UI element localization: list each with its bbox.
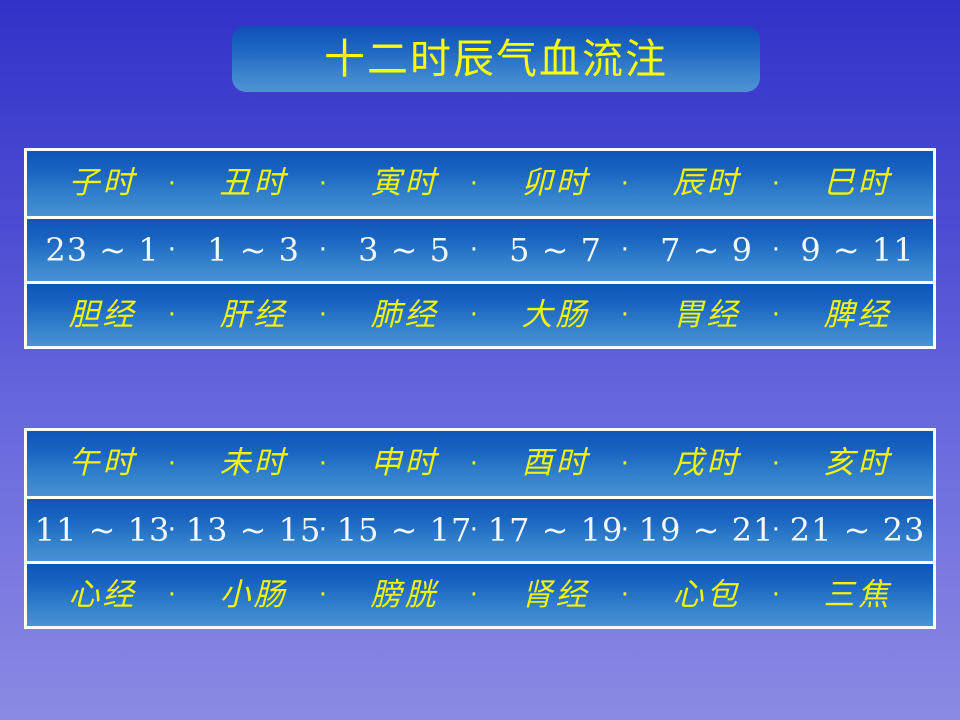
cell-shichen-zi: 子时· — [27, 151, 178, 216]
separator-dot: · — [470, 237, 478, 263]
cell-meridian-wei: 胃经· — [631, 284, 782, 346]
cell-meridian-dachang: 大肠· — [480, 284, 631, 346]
separator-dot: · — [470, 451, 478, 477]
separator-dot: · — [168, 582, 176, 608]
separator-dot: · — [168, 517, 176, 543]
cell-time-mao: 5 ~ 7· — [480, 219, 631, 281]
slide-title-box: 十二时辰气血流注 — [232, 26, 760, 92]
cell-time-you: 17 ~ 19· — [480, 499, 631, 561]
cell-time-chen: 7 ~ 9· — [631, 219, 782, 281]
table-row: 23 ~ 1· 1 ~ 3· 3 ~ 5· 5 ~ 7· 7 ~ 9· 9 ~ … — [27, 216, 933, 281]
separator-dot: · — [772, 302, 780, 328]
separator-dot: · — [470, 582, 478, 608]
table-row: 子时· 丑时· 寅时· 卯时· 辰时· 巳时· — [27, 151, 933, 216]
separator-dot: · — [772, 582, 780, 608]
separator-dot: · — [168, 237, 176, 263]
cell-time-shen: 15 ~ 17· — [329, 499, 480, 561]
cell-shichen-wei: 未时· — [178, 431, 329, 496]
cell-meridian-xinbao: 心包· — [631, 564, 782, 626]
cell-shichen-chen: 辰时· — [631, 151, 782, 216]
separator-dot: · — [621, 237, 629, 263]
separator-dot: · — [621, 302, 629, 328]
separator-dot: · — [470, 517, 478, 543]
table-row: 胆经· 肝经· 肺经· 大肠· 胃经· 脾经· — [27, 281, 933, 346]
table-row: 11 ~ 13· 13 ~ 15· 15 ~ 17· 17 ~ 19· 19 ~… — [27, 496, 933, 561]
slide-canvas: 十二时辰气血流注 子时· 丑时· 寅时· 卯时· 辰时· 巳时· 23 ~ 1·… — [0, 0, 960, 720]
separator-dot: · — [319, 517, 327, 543]
cell-shichen-mao: 卯时· — [480, 151, 631, 216]
cell-shichen-hai: 亥时· — [782, 431, 933, 496]
cell-time-xu: 19 ~ 21· — [631, 499, 782, 561]
cell-shichen-si: 巳时· — [782, 151, 933, 216]
table-second-half-day: 午时· 未时· 申时· 酉时· 戌时· 亥时· 11 ~ 13· 13 ~ 15… — [24, 428, 936, 629]
separator-dot: · — [319, 451, 327, 477]
cell-meridian-dan: 胆经· — [27, 284, 178, 346]
separator-dot: · — [772, 237, 780, 263]
cell-shichen-shen: 申时· — [329, 431, 480, 496]
separator-dot: · — [621, 517, 629, 543]
separator-dot: · — [470, 171, 478, 197]
separator-dot: · — [772, 451, 780, 477]
separator-dot: · — [319, 582, 327, 608]
cell-shichen-xu: 戌时· — [631, 431, 782, 496]
cell-shichen-chou: 丑时· — [178, 151, 329, 216]
cell-time-yin: 3 ~ 5· — [329, 219, 480, 281]
table-first-half-day: 子时· 丑时· 寅时· 卯时· 辰时· 巳时· 23 ~ 1· 1 ~ 3· 3… — [24, 148, 936, 349]
cell-shichen-yin: 寅时· — [329, 151, 480, 216]
table-row: 午时· 未时· 申时· 酉时· 戌时· 亥时· — [27, 431, 933, 496]
cell-meridian-pi: 脾经· — [782, 284, 933, 346]
cell-meridian-xin: 心经· — [27, 564, 178, 626]
cell-time-wu: 11 ~ 13· — [27, 499, 178, 561]
separator-dot: · — [168, 171, 176, 197]
cell-meridian-gan: 肝经· — [178, 284, 329, 346]
cell-time-hai: 21 ~ 23· — [782, 499, 933, 561]
cell-time-chou: 1 ~ 3· — [178, 219, 329, 281]
table-row: 心经· 小肠· 膀胱· 肾经· 心包· 三焦· — [27, 561, 933, 626]
cell-shichen-wu: 午时· — [27, 431, 178, 496]
cell-meridian-fei: 肺经· — [329, 284, 480, 346]
cell-meridian-xiaochang: 小肠· — [178, 564, 329, 626]
separator-dot: · — [319, 171, 327, 197]
separator-dot: · — [319, 237, 327, 263]
separator-dot: · — [772, 517, 780, 543]
separator-dot: · — [319, 302, 327, 328]
separator-dot: · — [621, 171, 629, 197]
cell-time-zi: 23 ~ 1· — [27, 219, 178, 281]
separator-dot: · — [168, 451, 176, 477]
separator-dot: · — [621, 451, 629, 477]
cell-shichen-you: 酉时· — [480, 431, 631, 496]
cell-meridian-sanjiao: 三焦· — [782, 564, 933, 626]
separator-dot: · — [470, 302, 478, 328]
separator-dot: · — [621, 582, 629, 608]
cell-time-wei: 13 ~ 15· — [178, 499, 329, 561]
page-title: 十二时辰气血流注 — [324, 39, 668, 80]
separator-dot: · — [772, 171, 780, 197]
separator-dot: · — [168, 302, 176, 328]
cell-meridian-pangguang: 膀胱· — [329, 564, 480, 626]
cell-time-si: 9 ~ 11· — [782, 219, 933, 281]
cell-meridian-shen: 肾经· — [480, 564, 631, 626]
